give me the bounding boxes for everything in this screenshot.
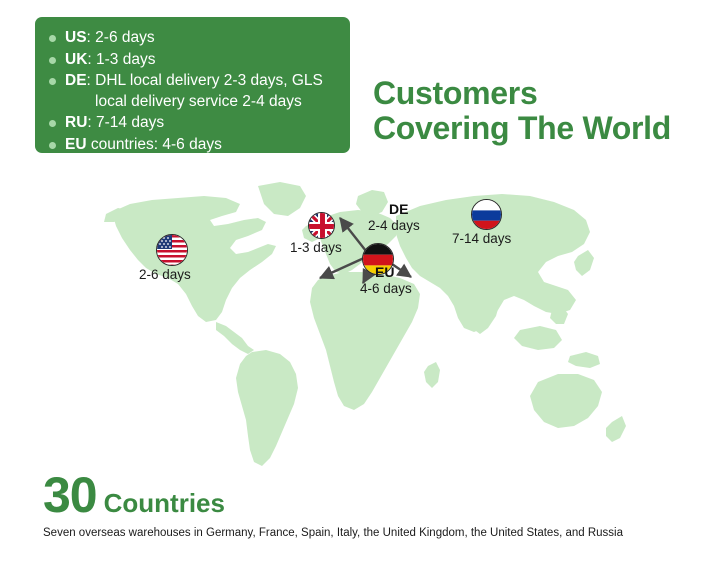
stats-unit: Countries bbox=[104, 490, 225, 516]
marker-us-label: 2-6 days bbox=[139, 267, 191, 283]
stats-headline: 30 Countries bbox=[43, 470, 683, 520]
marker-de-title: DE bbox=[389, 201, 408, 217]
marker-ru-label: 7-14 days bbox=[452, 231, 511, 247]
flag-us-icon[interactable] bbox=[156, 234, 188, 266]
flag-uk-icon[interactable] bbox=[308, 212, 335, 239]
marker-uk-label: 1-3 days bbox=[290, 240, 342, 256]
infographic-page: US: 2-6 days UK: 1-3 days DE: DHL local … bbox=[0, 0, 720, 563]
stats-number: 30 bbox=[43, 470, 97, 520]
stats-block: 30 Countries Seven overseas warehouses i… bbox=[43, 470, 683, 540]
stats-caption: Seven overseas warehouses in Germany, Fr… bbox=[43, 526, 683, 540]
flag-ru-icon[interactable] bbox=[471, 199, 502, 230]
arrow-to-uk bbox=[340, 218, 366, 251]
marker-de-label: 2-4 days bbox=[368, 218, 420, 234]
marker-eu-title: EU bbox=[375, 264, 394, 280]
marker-eu-label: 4-6 days bbox=[360, 281, 412, 297]
arrow-to-west bbox=[320, 258, 364, 278]
